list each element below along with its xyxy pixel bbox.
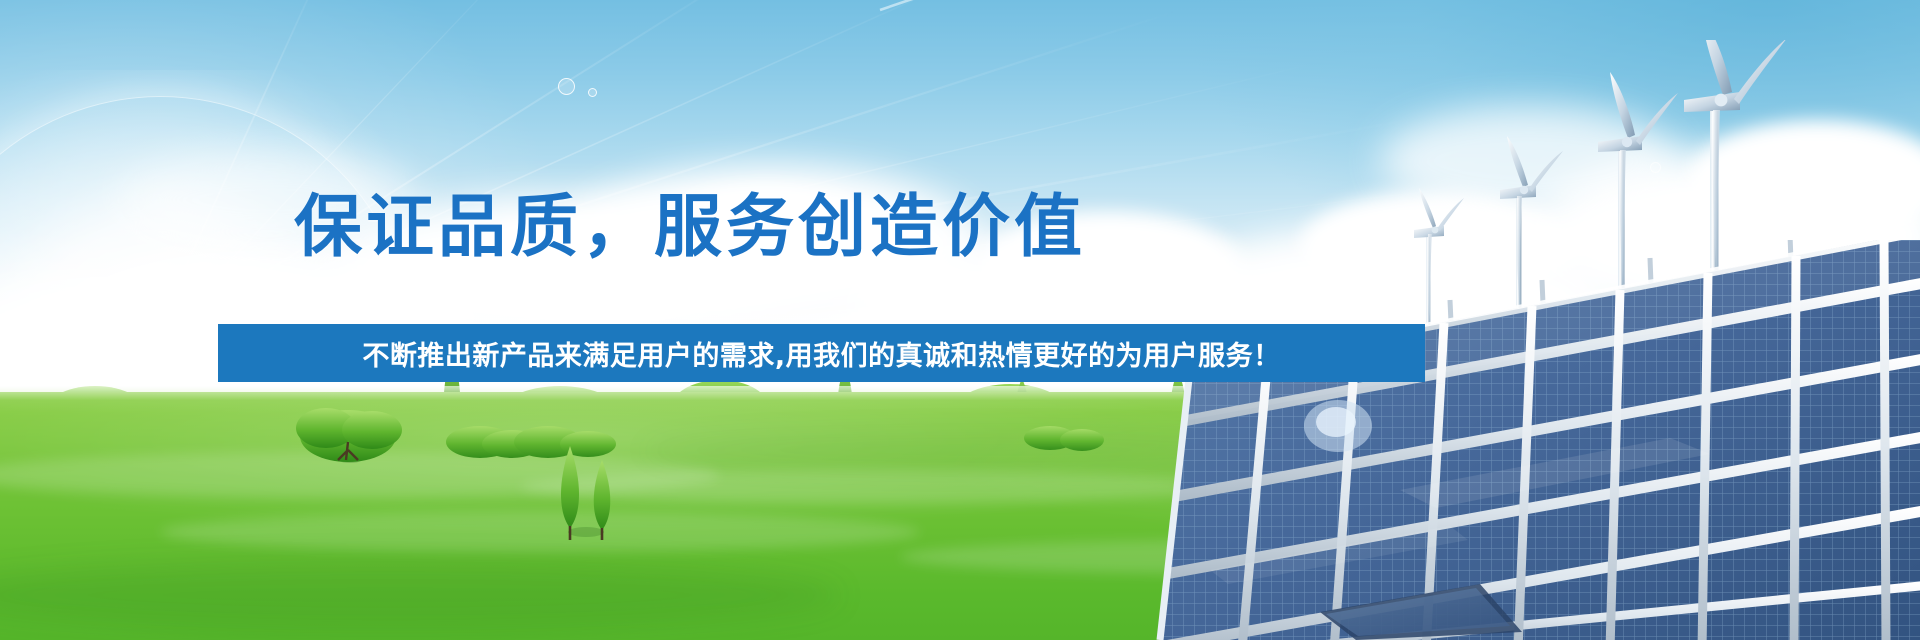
cypress-tree-icon (561, 446, 610, 530)
bush-icon (446, 426, 616, 458)
solar-panel-array (1150, 240, 1920, 640)
bush-icon (1024, 426, 1104, 451)
bush-icon (296, 408, 402, 462)
subtitle-text: 不断推出新产品来满足用户的需求,用我们的真诚和热情更好的为用户服务！ (362, 334, 1280, 373)
panel-surface (1150, 240, 1920, 640)
hero-banner: 保证品质，服务创造价值 不断推出新产品来满足用户的需求,用我们的真诚和热情更好的… (0, 0, 1920, 640)
subtitle-banner: 不断推出新产品来满足用户的需求,用我们的真诚和热情更好的为用户服务！ (218, 324, 1425, 382)
page-title: 保证品质，服务创造价值 (0, 186, 1380, 270)
